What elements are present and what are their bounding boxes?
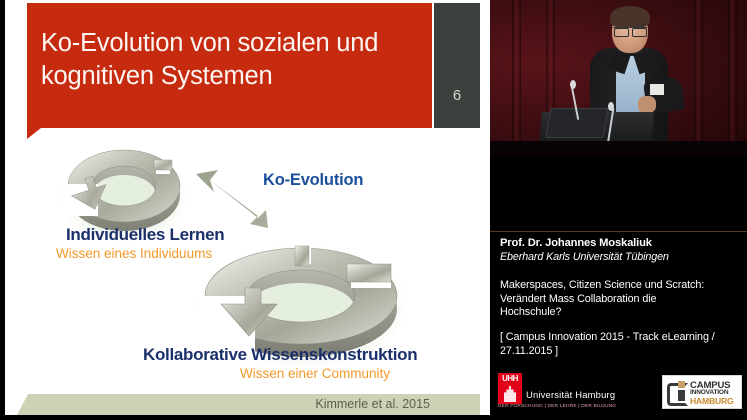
uhh-logo-mark: UHH xyxy=(498,373,522,404)
talk-info-panel: Prof. Dr. Johannes Moskaliuk Eberhard Ka… xyxy=(490,232,747,420)
label-ko-evolution: Ko-Evolution xyxy=(263,171,363,190)
curtain-fold xyxy=(728,0,737,157)
speaker-video[interactable] xyxy=(490,0,747,157)
talk-title: Makerspaces, Citizen Science und Scratch… xyxy=(500,279,715,320)
slide-title-banner: Ko-Evolution von sozialen und kognitiven… xyxy=(27,3,432,128)
speaker-affiliation: Eberhard Karls Universität Tübingen xyxy=(500,251,669,263)
speaker-name-badge xyxy=(650,84,664,95)
slide-bottom-border xyxy=(0,415,490,420)
microphone-head xyxy=(570,80,576,89)
uhh-logo-name: Universität Hamburg xyxy=(526,389,615,400)
slide-number: 6 xyxy=(434,87,480,104)
label-individuelles-lernen: Individuelles Lernen xyxy=(66,225,224,245)
video-and-info-pane: Prof. Dr. Johannes Moskaliuk Eberhard Ka… xyxy=(490,0,747,420)
glasses-lens-left xyxy=(614,28,629,37)
presentation-slide: Ko-Evolution von sozialen und kognitiven… xyxy=(0,0,490,420)
label-kollaborative-wissenskonstruktion: Kollaborative Wissenskonstruktion xyxy=(143,345,417,365)
uhh-logo-tagline: DER FORSCHUNG | DER LEHRE | DER BILDUNG xyxy=(498,404,616,409)
speaker-name: Prof. Dr. Johannes Moskaliuk xyxy=(500,237,652,249)
glasses-lens-right xyxy=(632,28,647,37)
campus-innovation-logo-mark xyxy=(667,381,687,402)
ci-square-accent xyxy=(678,381,685,388)
ci-square-dark xyxy=(678,390,685,401)
speaker-hand xyxy=(638,96,656,113)
microphone-head xyxy=(608,102,614,111)
video-letterbox xyxy=(490,141,747,157)
curtain-fold xyxy=(512,0,521,157)
universitaet-hamburg-logo: UHH Universität Hamburg DER FORSCHUNG | … xyxy=(498,373,633,413)
speaker-hair xyxy=(610,6,650,28)
koevolution-diagram: Individuelles Lernen Wissen eines Indivi… xyxy=(0,130,490,420)
slide-number-block: 6 xyxy=(434,3,480,128)
sublabel-wissen-einer-community: Wissen einer Community xyxy=(240,366,390,381)
uhh-logo-initials: UHH xyxy=(498,374,522,383)
ci-word-hamburg: HAMBURG xyxy=(690,397,733,406)
sublabel-wissen-eines-individuums: Wissen eines Individuums xyxy=(56,246,212,261)
slide-title: Ko-Evolution von sozialen und kognitiven… xyxy=(41,27,421,93)
curtain-fold xyxy=(694,0,703,157)
screen-root: Ko-Evolution von sozialen und kognitiven… xyxy=(0,0,747,420)
uhh-building-icon xyxy=(504,386,516,402)
campus-innovation-logo: CAMPUS INNOVATION HAMBURG xyxy=(662,375,742,409)
event-info: [ Campus Innovation 2015 - Track eLearni… xyxy=(500,331,725,358)
citation-text: Kimmerle et al. 2015 xyxy=(315,397,430,411)
citation-bar: Kimmerle et al. 2015 xyxy=(28,394,480,415)
slide-left-border xyxy=(0,0,5,420)
speaker-glasses-icon xyxy=(613,27,647,36)
